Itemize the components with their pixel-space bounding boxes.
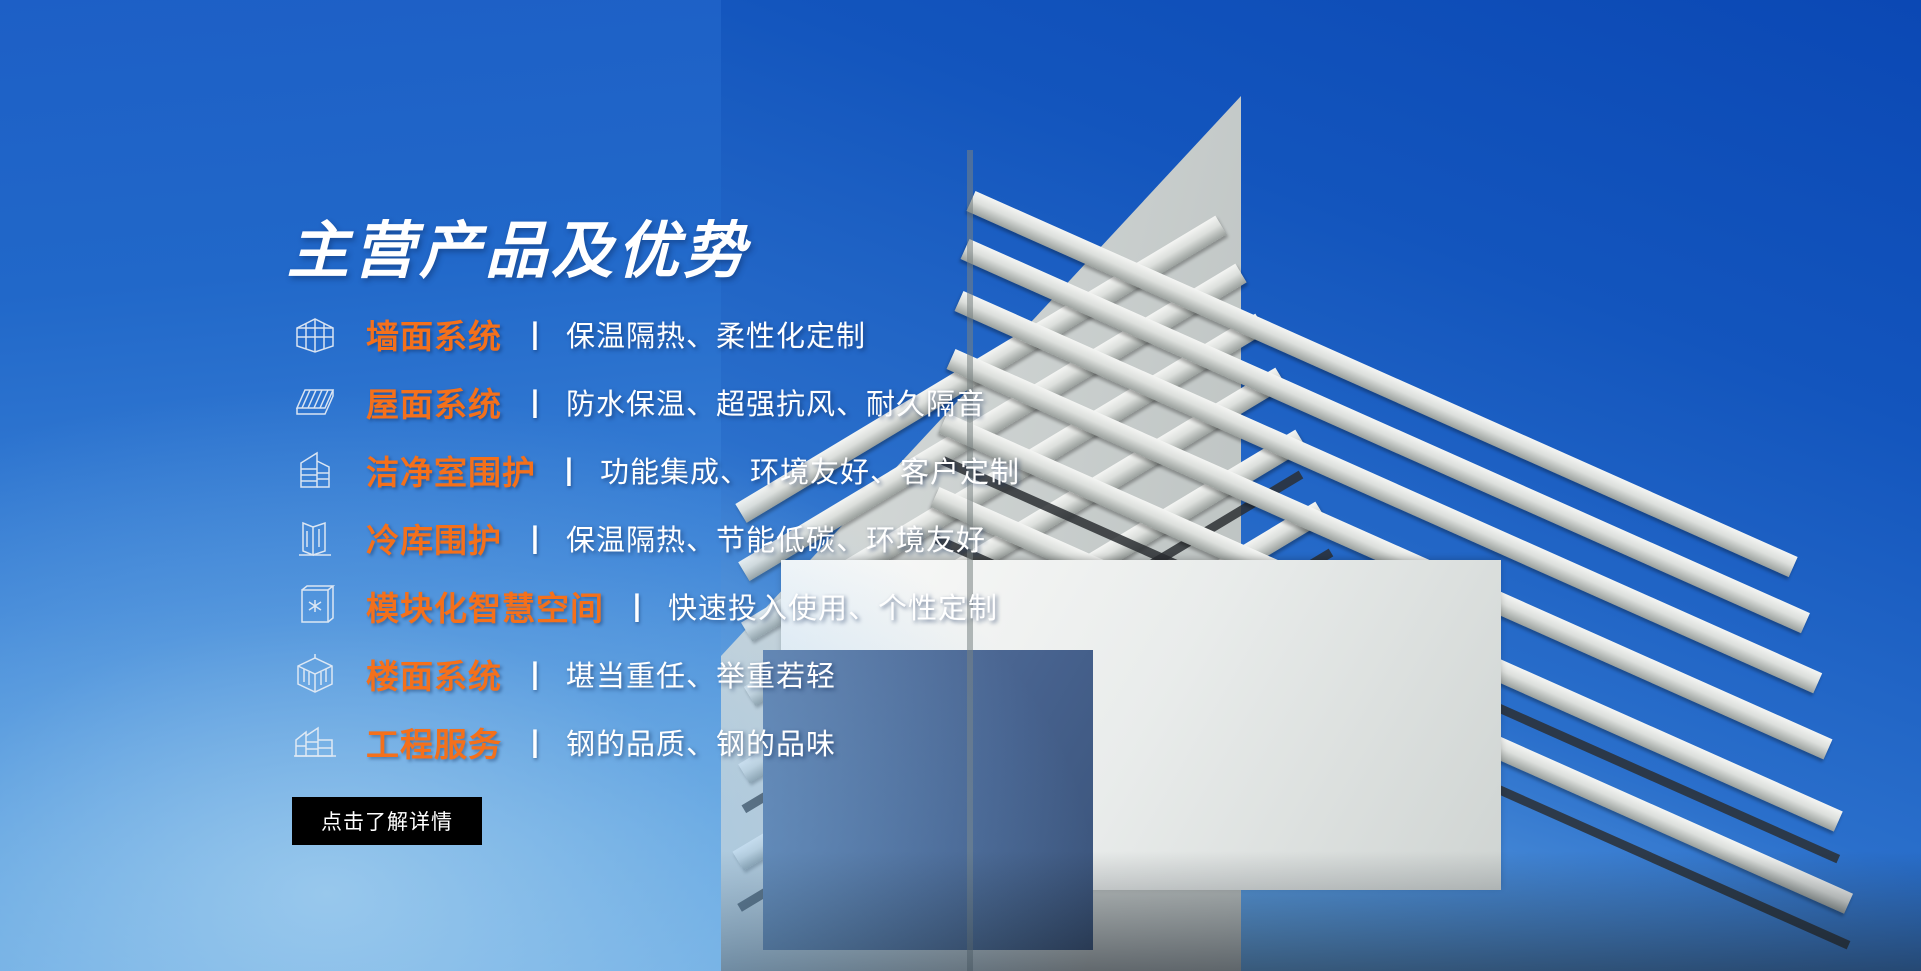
- product-desc: 堪当重任、举重若轻: [566, 653, 836, 695]
- floor-system-icon: [292, 651, 338, 697]
- learn-more-button[interactable]: 点击了解详情: [292, 797, 482, 845]
- product-name: 冷库围护: [366, 514, 502, 562]
- wall-panel-icon: [292, 311, 338, 357]
- list-item[interactable]: 冷库围护 丨 保温隔热、节能低碳、环境友好: [292, 504, 1192, 572]
- list-item[interactable]: 工程服务 丨 钢的品质、钢的品味: [292, 708, 1192, 776]
- product-desc: 防水保温、超强抗风、耐久隔音: [566, 381, 986, 423]
- product-name: 工程服务: [366, 718, 502, 766]
- list-item[interactable]: 模块化智慧空间 丨 快速投入使用、个性定制: [292, 572, 1192, 640]
- product-desc: 保温隔热、节能低碳、环境友好: [566, 517, 986, 559]
- list-item[interactable]: 屋面系统 丨 防水保温、超强抗风、耐久隔音: [292, 368, 1192, 436]
- list-item[interactable]: 楼面系统 丨 堪当重任、举重若轻: [292, 640, 1192, 708]
- separator: 丨: [520, 380, 550, 424]
- product-desc: 快速投入使用、个性定制: [668, 585, 998, 627]
- modular-space-icon: [292, 583, 338, 629]
- list-item[interactable]: 墙面系统 丨 保温隔热、柔性化定制: [292, 300, 1192, 368]
- product-name: 墙面系统: [366, 310, 502, 358]
- page-title: 主营产品及优势: [287, 200, 749, 290]
- cold-storage-icon: [292, 515, 338, 561]
- separator: 丨: [520, 720, 550, 764]
- engineering-service-icon: [292, 719, 338, 765]
- separator: 丨: [520, 516, 550, 560]
- separator: 丨: [622, 584, 652, 628]
- product-desc: 保温隔热、柔性化定制: [566, 313, 866, 355]
- banner-content: 主营产品及优势 墙面系统 丨 保温隔热、柔性化定制: [0, 0, 1060, 971]
- product-desc: 钢的品质、钢的品味: [566, 721, 836, 763]
- separator: 丨: [520, 312, 550, 356]
- product-desc: 功能集成、环境友好、客户定制: [600, 449, 1020, 491]
- product-name: 洁净室围护: [366, 446, 536, 494]
- product-name: 模块化智慧空间: [366, 582, 604, 630]
- product-name: 楼面系统: [366, 650, 502, 698]
- promo-banner: 主营产品及优势 墙面系统 丨 保温隔热、柔性化定制: [0, 0, 1921, 971]
- roof-panel-icon: [292, 379, 338, 425]
- product-list: 墙面系统 丨 保温隔热、柔性化定制 屋面系统 丨 防水保温、超强抗风、耐久隔音: [292, 300, 1192, 776]
- separator: 丨: [554, 448, 584, 492]
- cleanroom-icon: [292, 447, 338, 493]
- product-name: 屋面系统: [366, 378, 502, 426]
- list-item[interactable]: 洁净室围护 丨 功能集成、环境友好、客户定制: [292, 436, 1192, 504]
- separator: 丨: [520, 652, 550, 696]
